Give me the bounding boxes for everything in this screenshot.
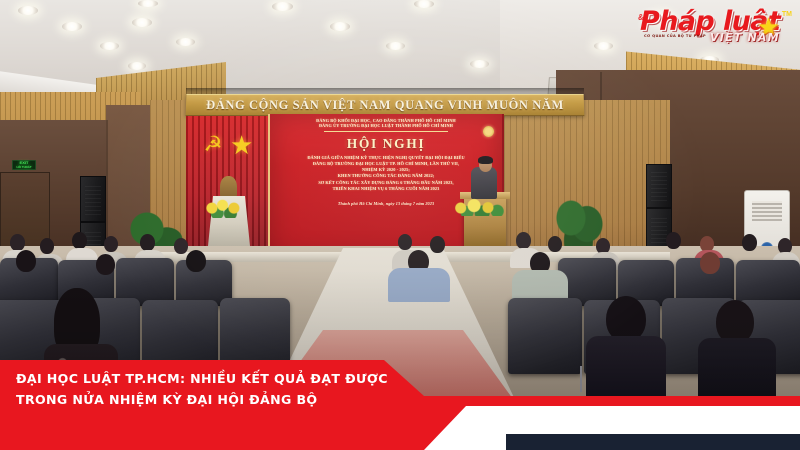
backdrop-title: HỘI NGHỊ (276, 136, 496, 152)
audience-head (548, 236, 562, 252)
audio-speaker-tower-left (80, 176, 106, 222)
ceiling-downlight (176, 38, 195, 46)
audience-head (398, 234, 412, 250)
ceiling-downlight (128, 62, 146, 70)
backdrop-org-line2: ĐẢNG ỦY TRƯỜNG ĐẠI HỌC LUẬT THÀNH PHỐ HỒ… (276, 123, 496, 128)
audience-head (700, 252, 720, 274)
headline-banner-navy-bar (506, 434, 800, 450)
audience-head (174, 238, 188, 254)
flower-arrangement-left (204, 196, 248, 218)
exit-sign-line2: LỐI THOÁT (16, 165, 31, 169)
hall-slogan-banner: ĐẢNG CỘNG SẢN VIỆT NAM QUANG VINH MUÔN N… (186, 94, 585, 116)
ceiling-downlight (414, 0, 434, 8)
screenshot-root: EXIT LỐI THOÁT ĐẢNG CỘNG SẢN VIỆT NAM QU… (0, 0, 800, 450)
logo-subtitle: CƠ QUAN CỦA BỘ TƯ PHÁP (644, 34, 706, 38)
audio-speaker-tower-right (646, 164, 672, 208)
ceiling-downlight (272, 2, 293, 11)
audience-head (430, 236, 445, 253)
audience-shoulders-foreground (698, 338, 776, 406)
ceiling-downlight (594, 42, 613, 50)
headline-line-1: ĐẠI HỌC LUẬT TP.HCM: NHIỀU KẾT QUẢ ĐẠT Đ… (16, 368, 376, 389)
ceiling-downlight (100, 42, 119, 50)
backdrop-divider (324, 131, 447, 132)
ceiling-downlight (62, 22, 82, 31)
audience-head (16, 250, 36, 272)
ceiling-downlight (132, 18, 152, 27)
exit-sign: EXIT LỐI THOÁT (12, 160, 36, 170)
backdrop-seal-icon (483, 126, 494, 137)
audience-shoulders-foreground (586, 336, 666, 406)
logo-country: VIỆT NAM (710, 32, 780, 44)
audience-chair (508, 298, 582, 374)
audience-shoulders (388, 268, 450, 302)
headline-line-2: TRONG NỬA NHIỆM KỲ ĐẠI HỘI ĐẢNG BỘ (16, 389, 376, 410)
audience-head (742, 234, 757, 251)
audience-head (96, 254, 115, 275)
audience-head (516, 232, 531, 249)
article-headline: ĐẠI HỌC LUẬT TP.HCM: NHIỀU KẾT QUẢ ĐẠT Đ… (16, 368, 376, 410)
audience-head (10, 234, 25, 251)
publication-logo[interactable]: & Pháp luật ★ TM CƠ QUAN CỦA BỘ TƯ PHÁP … (632, 6, 794, 52)
ceiling-downlight (470, 60, 489, 68)
chair-leg (580, 366, 582, 392)
audience-head (72, 232, 87, 249)
yellow-star-icon: ★ (230, 132, 253, 158)
audience-head (40, 238, 54, 254)
audience-head (140, 234, 155, 251)
audience-head (666, 232, 681, 249)
hammer-sickle-icon: ☭ (202, 134, 224, 156)
audience-head (104, 236, 118, 252)
speaker-hair (478, 156, 493, 164)
ceiling-downlight (18, 6, 38, 15)
logo-trademark: TM (782, 11, 792, 18)
flower-arrangement-podium (452, 196, 510, 216)
ceiling-downlight (386, 42, 405, 50)
ceiling-downlight (330, 22, 350, 31)
audience-head (186, 250, 206, 272)
ceiling-downlight (138, 0, 158, 7)
hall-slogan-text: ĐẢNG CỘNG SẢN VIỆT NAM QUANG VINH MUÔN N… (206, 98, 564, 113)
